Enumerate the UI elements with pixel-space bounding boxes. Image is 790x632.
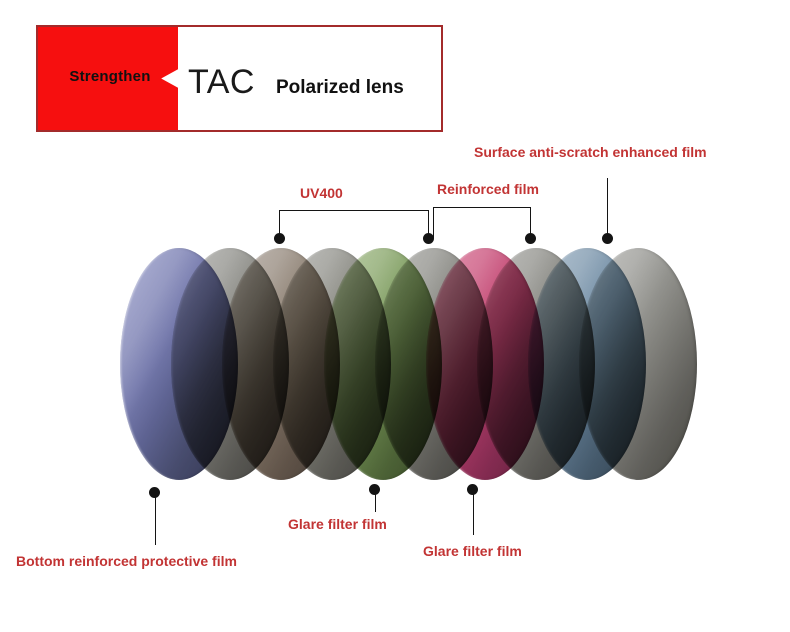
lens-rim <box>120 248 238 480</box>
reinforced-film-leader-left <box>433 207 434 238</box>
lens-rim <box>477 248 595 480</box>
lens-sheen <box>222 248 340 480</box>
lens-layer-10 <box>579 248 697 480</box>
lens-sheen <box>120 248 238 480</box>
lens-layer-8 <box>477 248 595 480</box>
bottom-reinforced-leader <box>155 493 156 545</box>
lens-body <box>120 248 238 480</box>
callout-glare-filter-left-label: Glare filter film <box>288 516 387 532</box>
lens-sheen <box>273 248 391 480</box>
uv400-bracket-horizontal <box>279 210 429 211</box>
lens-sheen <box>375 248 493 480</box>
reinforced-film-bracket-horizontal <box>433 207 531 208</box>
lens-sheen <box>324 248 442 480</box>
lens-rim <box>273 248 391 480</box>
callout-uv400-label: UV400 <box>300 185 343 201</box>
lens-layer-6 <box>375 248 493 480</box>
callout-glare-filter-right-label: Glare filter film <box>423 543 522 559</box>
lens-sheen <box>426 248 544 480</box>
lens-layer-9 <box>528 248 646 480</box>
strengthen-label: Strengthen <box>52 68 168 85</box>
callout-surface-anti-scratch-label: Surface anti-scratch enhanced film <box>474 144 707 160</box>
lens-rim <box>426 248 544 480</box>
lens-body <box>579 248 697 480</box>
lens-rim <box>222 248 340 480</box>
lens-layer-3 <box>222 248 340 480</box>
lens-body <box>426 248 544 480</box>
lens-sheen <box>477 248 595 480</box>
lens-sheen <box>579 248 697 480</box>
lens-body <box>528 248 646 480</box>
surface-anti-scratch-dot <box>602 233 613 244</box>
lens-rim <box>324 248 442 480</box>
lens-body <box>171 248 289 480</box>
glare-filter-right-leader <box>473 490 474 535</box>
lens-body <box>477 248 595 480</box>
lens-diagram-stage: Strengthen TAC Polarized lens <box>0 0 790 632</box>
lens-body <box>375 248 493 480</box>
lens-layer-5 <box>324 248 442 480</box>
lens-sheen <box>528 248 646 480</box>
lens-body <box>222 248 340 480</box>
callout-bottom-reinforced-label: Bottom reinforced protective film <box>16 553 237 569</box>
header-banner: Strengthen TAC Polarized lens <box>36 25 443 132</box>
lens-body <box>273 248 391 480</box>
uv400-dot-left <box>274 233 285 244</box>
lens-rim <box>528 248 646 480</box>
lens-sheen <box>171 248 289 480</box>
glare-filter-left-leader <box>375 490 376 512</box>
lens-layer-7 <box>426 248 544 480</box>
callout-reinforced-film-label: Reinforced film <box>437 181 539 197</box>
lens-layer-4 <box>273 248 391 480</box>
lens-rim <box>171 248 289 480</box>
lens-layer-1 <box>120 248 238 480</box>
lens-rim <box>579 248 697 480</box>
page-title: TAC <box>188 63 255 102</box>
lens-body <box>324 248 442 480</box>
page-subtitle: Polarized lens <box>276 77 404 99</box>
reinforced-film-dot-right <box>525 233 536 244</box>
lens-layer-2 <box>171 248 289 480</box>
lens-rim <box>375 248 493 480</box>
surface-anti-scratch-leader <box>607 178 608 238</box>
